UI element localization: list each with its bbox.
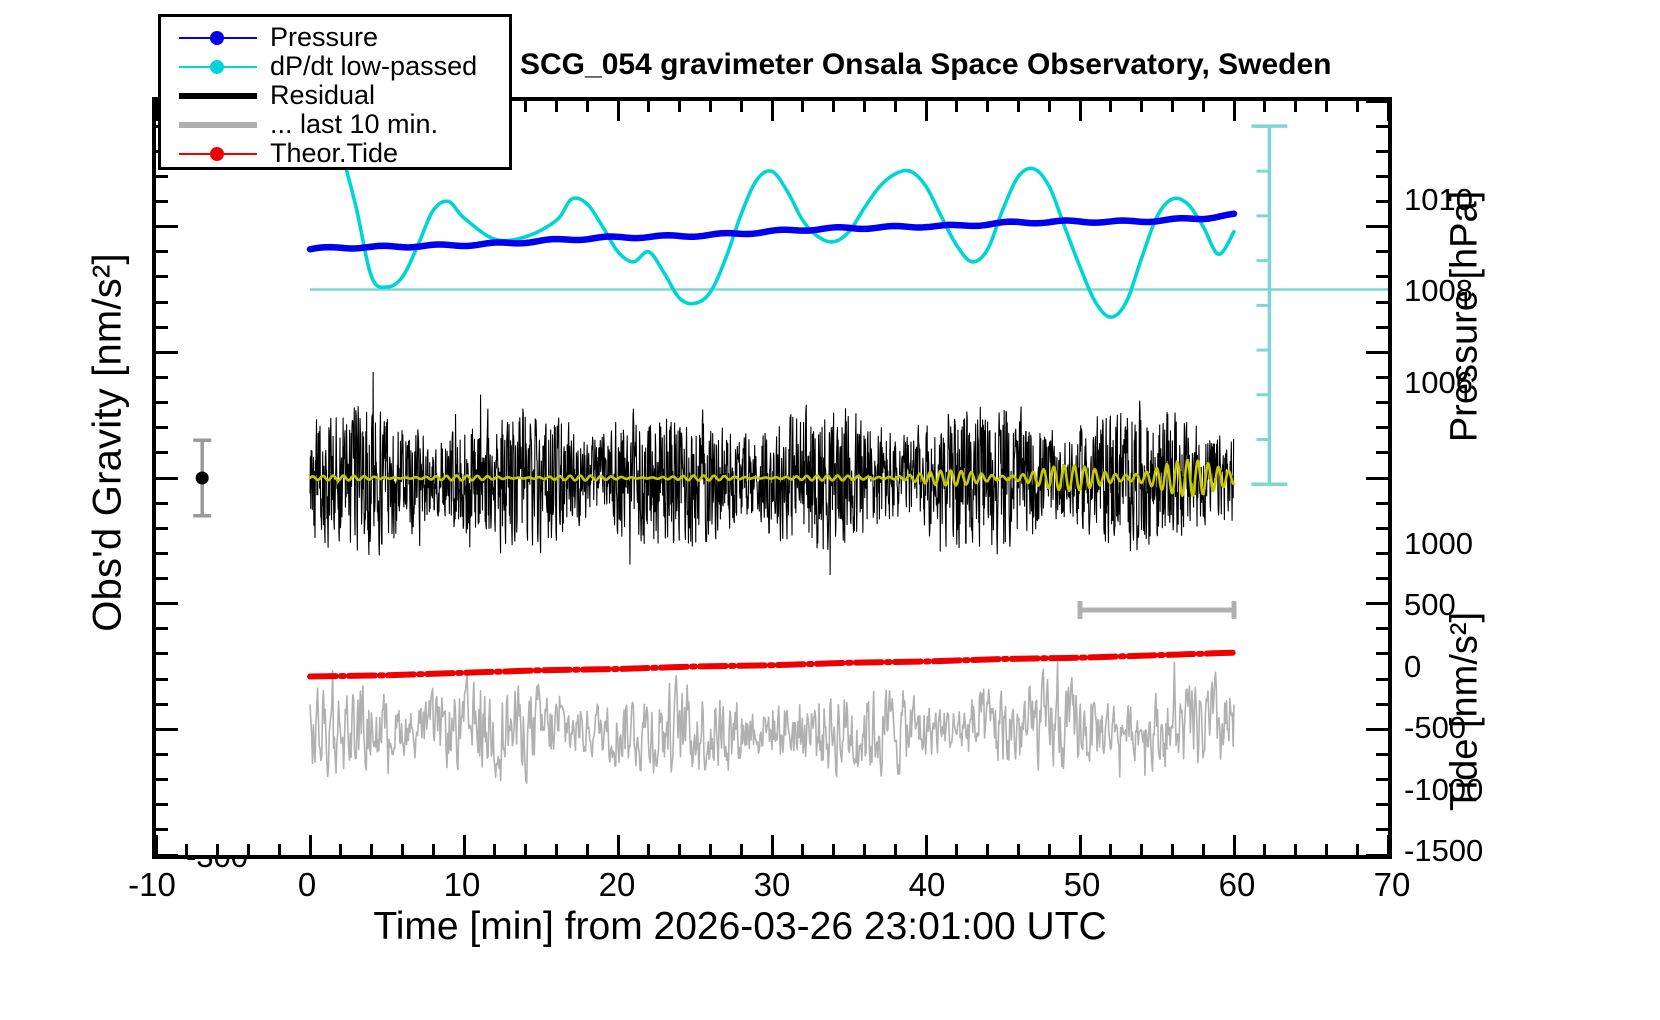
y-tick-left: [156, 627, 168, 630]
legend-residual-label: Residual: [270, 80, 375, 111]
legend-dpdt[interactable]: dP/dt low-passed: [161, 52, 509, 81]
y-tick-right: [1376, 753, 1388, 756]
y-tick-left: [156, 527, 168, 530]
x-tick-top: [1140, 101, 1143, 112]
legend-tide-label: Theor.Tide: [270, 138, 398, 169]
x-tick-bottom: [617, 835, 620, 855]
x-tick-bottom: [1109, 844, 1112, 855]
x-tick-bottom: [986, 844, 989, 855]
y-tick-right: [1376, 502, 1388, 505]
y-tick-tide-500: 500: [1404, 587, 1456, 623]
y-tick-right: [1376, 301, 1388, 304]
x-tick-top: [1387, 101, 1390, 121]
y-tick-right: [1376, 703, 1388, 706]
chart-title: SCG_054 gravimeter Onsala Space Observat…: [520, 48, 1332, 82]
x-tick-top: [771, 101, 774, 121]
x-tick-bottom: [216, 844, 219, 855]
x-tick-10: 10: [444, 866, 481, 904]
x-tick-top: [986, 101, 989, 112]
y-tick-left: [156, 376, 168, 379]
y-tick-right: [1376, 426, 1388, 429]
x-tick-top: [1263, 101, 1266, 112]
y-tick-right: [1366, 100, 1388, 103]
x-tick-top: [555, 101, 558, 112]
y-tick-left: [156, 753, 168, 756]
x-tick-bottom: [1233, 835, 1236, 855]
x-tick-bottom: [155, 835, 158, 855]
x-tick-top: [925, 101, 928, 121]
chart-canvas: Obs'd Gravity [nm/s²] Pressure [hPa] Tid…: [0, 0, 1660, 1020]
y-tick-right: [1366, 477, 1388, 480]
y-tick-left: [156, 728, 178, 731]
x-tick-bottom: [863, 844, 866, 855]
chart-legend: PressuredP/dt low-passedResidual... last…: [158, 14, 512, 170]
y-tick-tide-0: 0: [1404, 649, 1421, 685]
y-tick-right: [1376, 125, 1388, 128]
legend-dpdt-label: dP/dt low-passed: [270, 51, 477, 82]
y-tick-right: [1376, 175, 1388, 178]
y-tick-left: [156, 854, 178, 857]
y-tick-right: [1376, 275, 1388, 278]
x-tick-bottom: [1140, 844, 1143, 855]
x-tick-top: [586, 101, 589, 112]
legend-residual[interactable]: Residual: [161, 81, 509, 110]
y-tick-right: [1366, 728, 1388, 731]
y-tick-right: [1376, 577, 1388, 580]
y-tick-right: [1376, 652, 1388, 655]
x-tick-bottom: [493, 844, 496, 855]
y-tick-right: [1376, 803, 1388, 806]
y-tick-left: [156, 401, 168, 404]
legend-residual-swatch-icon: [179, 86, 257, 106]
y-tick-left: [156, 778, 168, 781]
legend-tide-swatch-icon: [179, 144, 257, 164]
plot-area: [152, 97, 1392, 859]
y-tick-left: [156, 678, 168, 681]
last-10-min-trace: [310, 662, 1234, 783]
y-tick-right: [1376, 828, 1388, 831]
y-tick-left: [156, 175, 168, 178]
x-tick-top: [617, 101, 620, 121]
x-tick-top: [863, 101, 866, 112]
x-tick-top: [801, 101, 804, 112]
y-tick-right: [1366, 854, 1388, 857]
x-tick-top: [1233, 101, 1236, 121]
x-tick-bottom: [709, 844, 712, 855]
y-tick-right: [1376, 627, 1388, 630]
typical-noise-level-dot: [196, 472, 209, 485]
x-tick-top: [709, 101, 712, 112]
y-tick-right: [1376, 326, 1388, 329]
pressure-trace: [310, 214, 1234, 250]
data-traces: [156, 101, 1388, 855]
y-tick-left: [156, 200, 168, 203]
x-tick-bottom: [740, 844, 743, 855]
x-tick-top: [1325, 101, 1328, 112]
y-tick-left: [156, 803, 168, 806]
legend-tide[interactable]: Theor.Tide: [161, 139, 509, 168]
y-tick-left: [156, 502, 168, 505]
y-tick-right: [1376, 200, 1388, 203]
x-axis-title: Time [min] from 2026-03-26 23:01:00 UTC: [140, 905, 1340, 949]
x-tick-bottom: [1356, 844, 1359, 855]
y-tick-right: [1366, 225, 1388, 228]
y-tick-left: [156, 426, 168, 429]
theoretical-tide-trace: [310, 653, 1234, 677]
x-tick-top: [1202, 101, 1205, 112]
y-tick-tide-m500: -500: [1404, 710, 1466, 746]
x-tick-bottom: [401, 844, 404, 855]
y-tick-right: [1366, 351, 1388, 354]
x-tick-top: [1017, 101, 1020, 112]
x-tick-bottom: [309, 835, 312, 855]
x-tick-50: 50: [1064, 866, 1101, 904]
y-tick-left: [156, 477, 178, 480]
y-tick-left: [156, 828, 168, 831]
x-tick-top: [832, 101, 835, 112]
y-tick-left: [156, 703, 168, 706]
x-tick-top: [894, 101, 897, 112]
y-tick-tide-m1000: -1000: [1404, 772, 1483, 808]
y-tick-left: [156, 577, 168, 580]
x-tick-60: 60: [1219, 866, 1256, 904]
x-tick-bottom: [247, 844, 250, 855]
x-tick-top: [740, 101, 743, 112]
x-tick-0: 0: [298, 866, 316, 904]
legend-last10-swatch-icon: [179, 115, 257, 135]
x-tick-bottom: [370, 844, 373, 855]
x-tick-top: [1356, 101, 1359, 112]
x-tick-40: 40: [909, 866, 946, 904]
x-tick-20: 20: [599, 866, 636, 904]
legend-pressure-swatch-icon: [179, 28, 257, 48]
y-tick-left: [156, 326, 168, 329]
x-tick-bottom: [185, 844, 188, 855]
y-tick-tide-m1500: -1500: [1404, 833, 1483, 869]
y-tick-pressure-1006: 1006: [1404, 365, 1473, 401]
legend-dpdt-swatch-icon: [179, 57, 257, 77]
x-tick-bottom: [1171, 844, 1174, 855]
x-tick-top: [1048, 101, 1051, 112]
y-tick-right: [1376, 250, 1388, 253]
y-axis-title-pressure: Pressure [hPa]: [1444, 97, 1487, 537]
y-tick-right: [1376, 778, 1388, 781]
x-tick-bottom: [1048, 844, 1051, 855]
x-tick-bottom: [832, 844, 835, 855]
y-tick-right: [1376, 451, 1388, 454]
x-tick-bottom: [678, 844, 681, 855]
x-tick-bottom: [1079, 835, 1082, 855]
legend-last10-label: ... last 10 min.: [270, 109, 438, 140]
x-tick-bottom: [1387, 835, 1390, 855]
y-tick-pressure-1010: 1010: [1404, 182, 1473, 218]
x-tick-top: [955, 101, 958, 112]
y-tick-pressure-1008: 1008: [1404, 273, 1473, 309]
x-tick-bottom: [801, 844, 804, 855]
y-axis-title-left: Obs'd Gravity [nm/s²]: [86, 163, 131, 723]
x-tick-bottom: [432, 844, 435, 855]
x-tick-top: [647, 101, 650, 112]
x-tick-bottom: [586, 844, 589, 855]
x-tick-70: 70: [1374, 866, 1411, 904]
x-tick-bottom: [463, 835, 466, 855]
y-tick-left: [156, 225, 178, 228]
y-tick-left: [156, 451, 168, 454]
x-tick-bottom: [925, 835, 928, 855]
y-tick-left: [156, 301, 168, 304]
x-tick-bottom: [1325, 844, 1328, 855]
x-tick-bottom: [524, 844, 527, 855]
x-tick-bottom: [955, 844, 958, 855]
x-tick-bottom: [894, 844, 897, 855]
x-tick-bottom: [339, 844, 342, 855]
y-tick-left: [156, 250, 168, 253]
x-tick-top: [1079, 101, 1082, 121]
y-tick-right: [1376, 376, 1388, 379]
y-tick-left: [156, 602, 178, 605]
x-tick-30: 30: [754, 866, 791, 904]
x-tick-top: [1171, 101, 1174, 112]
y-tick-right: [1376, 678, 1388, 681]
y-tick-right: [1366, 602, 1388, 605]
x-tick-bottom: [1263, 844, 1266, 855]
x-tick-bottom: [278, 844, 281, 855]
x-tick-top: [1294, 101, 1297, 112]
x-tick-bottom: [1202, 844, 1205, 855]
x-tick-top: [524, 101, 527, 112]
y-tick-right: [1376, 150, 1388, 153]
y-tick-right: [1376, 401, 1388, 404]
x-tick-m10: -10: [128, 866, 176, 904]
y-tick-left: [156, 275, 168, 278]
x-tick-bottom: [1017, 844, 1020, 855]
y-tick-right: [1376, 552, 1388, 555]
x-tick-top: [678, 101, 681, 112]
legend-pressure-label: Pressure: [270, 22, 378, 53]
x-tick-top: [1109, 101, 1112, 112]
y-tick-right: [1376, 527, 1388, 530]
legend-last10[interactable]: ... last 10 min.: [161, 110, 509, 139]
x-tick-bottom: [771, 835, 774, 855]
x-tick-bottom: [1294, 844, 1297, 855]
y-tick-left: [156, 652, 168, 655]
x-tick-bottom: [555, 844, 558, 855]
legend-pressure[interactable]: Pressure: [161, 23, 509, 52]
y-tick-tide-1000: 1000: [1404, 526, 1473, 562]
y-tick-left: [156, 552, 168, 555]
y-tick-left: [156, 351, 178, 354]
x-tick-bottom: [647, 844, 650, 855]
